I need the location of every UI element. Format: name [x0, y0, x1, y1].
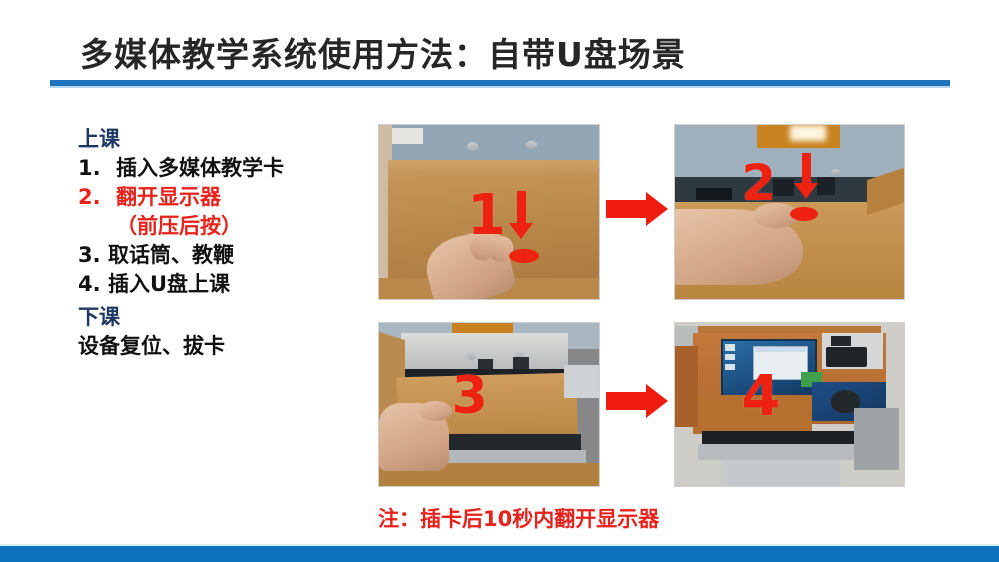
photo-step-2: 2 [674, 124, 905, 300]
step-3-number: 3. [78, 242, 108, 269]
photo-1-down-arrow-icon [511, 191, 531, 225]
title-underline-rule [50, 80, 950, 86]
photo-4-scene [675, 323, 904, 486]
photo-2-step-number: 2 [741, 158, 776, 208]
step-4-number: 4. [78, 271, 108, 298]
step-3-label: 取话筒、教鞭 [108, 242, 234, 269]
photo-4-step-number: 4 [741, 369, 780, 425]
photo-3-scene [379, 323, 599, 486]
class-end-heading: 下课 [78, 304, 368, 330]
instruction-step-3: 3. 取话筒、教鞭 [78, 242, 368, 269]
photo-step-4: 4 [674, 322, 905, 487]
step-4-label: 插入U盘上课 [108, 271, 230, 298]
instruction-step-4: 4. 插入U盘上课 [78, 271, 368, 298]
slide-canvas: 多媒体教学系统使用方法：自带U盘场景 上课 1. 插入多媒体教学卡 2. 翻开显… [0, 0, 999, 562]
step-2-subnote: （前压后按） [116, 213, 368, 240]
instruction-step-2: 2. 翻开显示器 [78, 184, 368, 211]
instructions-panel: 上课 1. 插入多媒体教学卡 2. 翻开显示器 （前压后按） 3. 取话筒、教鞭… [78, 126, 368, 361]
photo-step-1: 1 [378, 124, 600, 300]
step-1-label: 插入多媒体教学卡 [116, 155, 284, 182]
step-2-number: 2. [78, 184, 116, 211]
step-1-number: 1. [78, 155, 116, 182]
class-end-text: 设备复位、拔卡 [78, 333, 368, 360]
photo-3-step-number: 3 [452, 370, 488, 422]
instruction-step-1: 1. 插入多媒体教学卡 [78, 155, 368, 182]
step-2-label: 翻开显示器 [116, 184, 221, 211]
flow-arrow-right-row-2 [606, 382, 668, 420]
footer-bar [0, 546, 999, 562]
photo-2-down-arrow-icon [796, 153, 816, 185]
page-title: 多媒体教学系统使用方法：自带U盘场景 [80, 28, 686, 76]
class-start-heading: 上课 [78, 126, 368, 152]
photo-1-step-number: 1 [467, 188, 506, 244]
footnote-text: 注：插卡后10秒内翻开显示器 [378, 503, 908, 533]
photo-2-target-dot-marker [790, 207, 818, 221]
photo-step-3: 3 [378, 322, 600, 487]
photo-1-target-dot-marker [509, 249, 539, 263]
flow-arrow-right-row-1 [606, 190, 668, 228]
